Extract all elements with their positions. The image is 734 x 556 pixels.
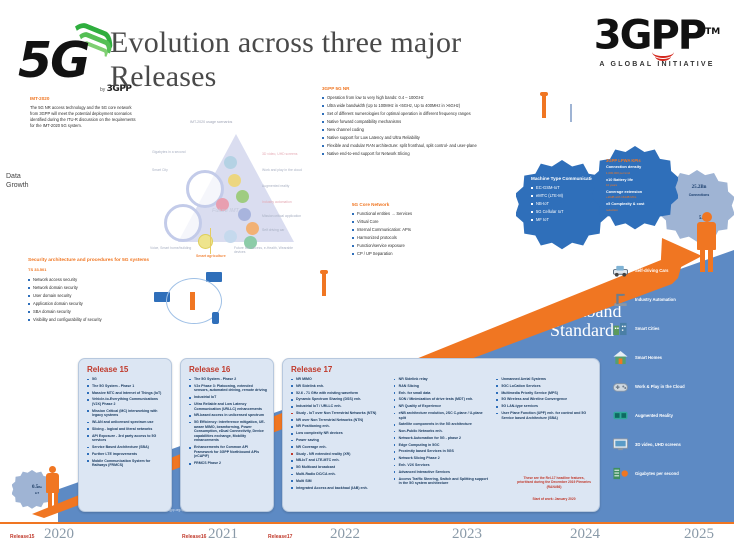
- release-15-item: WLAN and unlicensed spectrum use: [87, 420, 165, 425]
- use-case-item[interactable]: Industry Automation: [612, 285, 732, 314]
- nr-item: Native support for Low Latency and Ultra…: [322, 135, 537, 141]
- release-15-item: Vehicle-to-Everything Communications (V2…: [87, 397, 165, 406]
- mtc-item: NB-IoT: [531, 201, 603, 207]
- release-17-item: NR MIMO: [291, 377, 388, 382]
- car-icon: [612, 263, 629, 278]
- release-17-item: 5GC LoCation Services: [496, 384, 593, 389]
- release-17-item: Integrated Access and backhaul (IAB) enh…: [291, 486, 388, 491]
- release-17-item: User Plane Function (UPF) enh. for contr…: [496, 411, 593, 420]
- release-15-title: Release 15: [79, 359, 171, 377]
- release-17-item: 5G LAN-type services: [496, 404, 593, 409]
- base-station-top-2: [568, 102, 574, 122]
- swoosh-icon-2: [655, 51, 671, 61]
- release-15-list: 5GThe 5G System - Phase 1Massive MTC and…: [79, 377, 171, 475]
- release-17-card[interactable]: Release 17 NR MIMONR Sidelink enh.52.6 -…: [282, 358, 600, 512]
- nr-item: Native end-to-end support for Network Sl…: [322, 151, 537, 157]
- release-15-item: Mission Critical (MC) interworking with …: [87, 409, 165, 418]
- mtc-block: Machine Type Communications EC-GSM-IoTeM…: [531, 176, 603, 225]
- release-15-item: Further LTE improvements: [87, 452, 165, 457]
- release-17-item: NR Quality of Experience: [394, 404, 491, 409]
- lpwa-item-sub: +20dB with 164dB MCL: [606, 195, 668, 200]
- release-15-item: The 5G System - Phase 1: [87, 384, 165, 389]
- core-heading: 5G Core Network: [352, 202, 512, 208]
- release-15-item: API Exposure - 3rd party access to 5G se…: [87, 434, 165, 443]
- release-16-item: NR-based access in unlicensed spectrum: [189, 413, 267, 418]
- release-17-item: Network Automation for 5G - phase 2: [394, 436, 491, 441]
- base-station-top: [540, 92, 548, 118]
- pyramid-label-right-0: 3D video, UHD screens: [262, 152, 297, 156]
- release-17-item: NR Coverage enh.: [291, 445, 388, 450]
- release-17-item: NB-IoT and LTE-MTC enh.: [291, 458, 388, 463]
- lpwa-heading: 3GPP LPWA KPIs: [606, 158, 668, 163]
- release-17-item: Enh. for small data: [394, 391, 491, 396]
- lpwa-item-label: Coverage extension: [606, 190, 642, 194]
- kpi-connections-caption: Connections: [676, 193, 722, 197]
- timeline: 202020212022202320242025Release15Release…: [0, 520, 734, 556]
- mtc-item: 5G Cellular IoT: [531, 209, 603, 215]
- release-15-item: Massive MTC and Internet of Things (IoT): [87, 391, 165, 396]
- release-17-title: Release 17: [283, 359, 599, 377]
- release-16-item: The 5G System - Phase 2: [189, 377, 267, 382]
- lpwa-item: Connection density1,000,000 per km2: [606, 165, 668, 176]
- release-17-item: Multi-Radio DC/CA enh.: [291, 472, 388, 477]
- kpi-connections-number: 25.2: [692, 185, 701, 190]
- release-17-item: Non-Public Networks enh.: [394, 429, 491, 434]
- use-case-label: Smart Homes: [635, 355, 662, 360]
- robot-arm-icon: [612, 292, 629, 307]
- kpi-connections-value: 25.2Bn: [676, 180, 722, 193]
- page-title: Evolution across three major Releases: [110, 26, 570, 94]
- release-17-item: NR Sidelink relay: [394, 377, 491, 382]
- release-17-item: Study - IoT over Non Terrestrial Network…: [291, 411, 388, 416]
- use-case-item[interactable]: Augmented Reality: [612, 401, 732, 430]
- release-17-item: Access Traffic Steering, Switch and Spli…: [394, 477, 491, 486]
- release-17-item: 5G Multicast broadcast: [291, 465, 388, 470]
- screen-icon: [612, 437, 629, 452]
- mtc-item: MF IoT: [531, 217, 603, 223]
- imt2020-heading: IMT-2020: [30, 96, 138, 102]
- city-icon: [612, 321, 629, 336]
- pyramid-label-left-0: Gigabytes in a second: [152, 150, 186, 154]
- release-16-item: V2x Phase 3: Platooning, extended sensor…: [189, 384, 267, 393]
- timeline-year: 2020: [44, 526, 74, 543]
- lpwa-item-sub: reduction: [606, 208, 668, 213]
- pyramid-label-right-2: Augmented reality: [262, 184, 289, 188]
- lpwa-item-label: x5 Complexity & cost: [606, 202, 644, 206]
- release-16-item: Industrial IoT: [189, 395, 267, 400]
- nr-item: Operation from low to very high bands: 0…: [322, 95, 537, 101]
- lpwa-item-label: x10 Battery life: [606, 178, 633, 182]
- pyramid-icon-ar: [236, 190, 249, 203]
- timeline-release-marker: Release16: [182, 534, 206, 540]
- release-17-item: Network Slicing Phase 2: [394, 456, 491, 461]
- timeline-year: 2023: [452, 526, 482, 543]
- release-16-card[interactable]: Release 16 The 5G System - Phase 2V2x Ph…: [180, 358, 274, 512]
- pyramid-label-right-3: Industry automation: [262, 200, 292, 204]
- timeline-year: 2021: [208, 526, 238, 543]
- use-case-item[interactable]: Self-driving Cars: [612, 256, 732, 285]
- release-17-item: 52.6 - 71 GHz with existing waveform: [291, 391, 388, 396]
- release-17-item: NR over Non Terrestrial Networks (NTN): [291, 418, 388, 423]
- nr-item: Set of different numerologies for optima…: [322, 111, 537, 117]
- use-case-item[interactable]: Work & Play in the Cloud: [612, 372, 732, 401]
- release-17-item: RAN Slicing: [394, 384, 491, 389]
- release-17-note-2: Start of work: January 2020: [515, 497, 593, 501]
- release-15-item: Slicing - logical and literal networks: [87, 427, 165, 432]
- mtc-item: EC-GSM-IoT: [531, 185, 603, 191]
- pyramid-center-label: Future IMT: [212, 208, 239, 214]
- nr-list: Operation from low to very high bands: 0…: [322, 95, 537, 157]
- logo-3gpp: 3GPPTM A GLOBAL INITIATIVE: [592, 12, 722, 68]
- lpwa-item: x10 Battery life10 years: [606, 178, 668, 189]
- logo-5g-text: 5G: [18, 36, 88, 85]
- lpwa-item-sub: 10 years: [606, 183, 668, 188]
- timeline-axis: [0, 522, 734, 524]
- nr-block: 3GPP 5G NR Operation from low to very hi…: [322, 86, 537, 159]
- release-15-item: Service Based Architecture (SBA): [87, 445, 165, 450]
- base-station-mid: [320, 270, 328, 296]
- timeline-year: 2022: [330, 526, 360, 543]
- imt2020-body: The 5G NR access technology and the 5G c…: [30, 105, 138, 129]
- release-17-item: NR Sidelink enh.: [291, 384, 388, 389]
- release-17-item: Advanced Interactive Services: [394, 470, 491, 475]
- release-17-item: 5G Wireless and Wireline Convergence: [496, 397, 593, 402]
- timeline-year: 2024: [570, 526, 600, 543]
- use-case-label: 3D video, UHD screens: [635, 442, 681, 447]
- timeline-year: 2025: [684, 526, 714, 543]
- pyramid-icon-screen: [224, 156, 237, 169]
- release-16-item: 5G Efficiency: interference mitigation, …: [189, 420, 267, 443]
- lpwa-item-sub: 1,000,000 per km2: [606, 171, 668, 176]
- gamepad-icon: [612, 379, 629, 394]
- pyramid-title: IMT-2020 usage scenarios: [190, 120, 232, 124]
- release-17-item: Unmanned Aerial Systems: [496, 377, 593, 382]
- use-case-list: Self-driving CarsIndustry AutomationSmar…: [612, 256, 732, 488]
- nr-item: New channel coding: [322, 127, 537, 133]
- lpwa-item: Coverage extension+20dB with 164dB MCL: [606, 190, 668, 201]
- release-17-item: NR Positioning enh.: [291, 424, 388, 429]
- nr-heading: 3GPP 5G NR: [322, 86, 537, 92]
- house-icon: [612, 350, 629, 365]
- mtc-list: EC-GSM-IoTeMTC (LTE-M)NB-IoT5G Cellular …: [531, 185, 603, 223]
- release-17-item: Edge Computing in 5GC: [394, 443, 491, 448]
- release-17-item: eNB architecture evolution, 2SC C-plane …: [394, 411, 491, 420]
- core-item: Functional entities → Services: [352, 211, 512, 217]
- lpwa-item-label: Connection density: [606, 165, 641, 169]
- logo-3gpp-text: 3GPP: [594, 12, 705, 58]
- release-17-item: SON / Minimization of drive tests (MDT) …: [394, 397, 491, 402]
- kpi-connections-unit: Bn: [700, 185, 706, 190]
- imt2020-block: IMT-2020 The 5G NR access technology and…: [30, 96, 138, 129]
- release-16-item: Ultra Reliable and Low Latency Communica…: [189, 402, 267, 411]
- use-case-label: Smart Cities: [635, 326, 659, 331]
- lpwa-list: Connection density1,000,000 per km2x10 B…: [606, 165, 668, 213]
- logo-by-label: by: [100, 87, 105, 93]
- release-17-list-2: NR Sidelink relayRAN SlicingEnh. for sma…: [394, 377, 491, 492]
- release-17-item: Enh. V2X Services: [394, 463, 491, 468]
- use-case-item[interactable]: 3D video, UHD screens: [612, 430, 732, 459]
- lpwa-item: x5 Complexity & costreduction: [606, 202, 668, 213]
- release-16-item: Enhancements for Common API Framework fo…: [189, 445, 267, 459]
- pyramid-label-right-4: Mission critical application: [262, 214, 301, 218]
- release-17-item: Multi SIM: [291, 479, 388, 484]
- release-17-list-3: Unmanned Aerial Systems5GC LoCation Serv…: [496, 377, 593, 492]
- release-15-card[interactable]: Release 15 5GThe 5G System - Phase 1Mass…: [78, 358, 172, 512]
- use-case-label: Augmented Reality: [635, 413, 673, 418]
- timeline-release-marker: Release15: [10, 534, 34, 540]
- nr-item: Flexible and modular RAN architecture: s…: [322, 143, 537, 149]
- pyramid-label-left-1: Smart City: [152, 168, 168, 172]
- logo-3gpp-tagline: A GLOBAL INITIATIVE: [592, 61, 722, 68]
- release-15-item: 5G: [87, 377, 165, 382]
- trademark-icon: TM: [705, 27, 720, 37]
- use-case-label: Self-driving Cars: [635, 268, 669, 273]
- release-16-title: Release 16: [181, 359, 273, 377]
- release-17-item: Power saving: [291, 438, 388, 443]
- person-silhouette-left: [44, 466, 62, 512]
- pyramid-icon-critical: [238, 208, 251, 221]
- use-case-label: Industry Automation: [635, 297, 676, 302]
- ar-glasses-icon: [612, 408, 629, 423]
- nr-item: Native forward compatibility mechanisms: [322, 119, 537, 125]
- page-header: 5G by 3GPP Evolution across three major …: [0, 0, 734, 92]
- release-17-list-1: NR MIMONR Sidelink enh.52.6 - 71 GHz wit…: [291, 377, 388, 492]
- release-17-item: Low complexity NR devices: [291, 431, 388, 436]
- use-case-label: Work & Play in the Cloud: [635, 384, 685, 389]
- release-17-item: Satellite components in the 5G architect…: [394, 422, 491, 427]
- lpwa-block: 3GPP LPWA KPIs Connection density1,000,0…: [606, 158, 668, 215]
- use-case-label: Gigabytes per second: [635, 471, 679, 476]
- kpi-connections: 25.2Bn Connections: [676, 180, 722, 197]
- release-15-item: Mobile Communication System for Railways…: [87, 459, 165, 468]
- release-17-item: Multimedia Priority Service (MPS): [496, 391, 593, 396]
- use-case-item[interactable]: Smart Homes: [612, 343, 732, 372]
- release-17-item: Dynamic Spectrum Sharing (DSS) enh.: [291, 397, 388, 402]
- release-17-item: Study - NR extended reality (XR): [291, 452, 388, 457]
- use-case-item[interactable]: Smart Cities: [612, 314, 732, 343]
- timeline-release-marker: Release17: [268, 534, 292, 540]
- pyramid-label-right-1: Work and play in the cloud: [262, 168, 302, 172]
- release-16-list: The 5G System - Phase 2V2x Phase 3: Plat…: [181, 377, 273, 473]
- release-17-item: Proximity based Services in 5GS: [394, 449, 491, 454]
- release-17-note: These are the Rel-17 headline features, …: [515, 476, 593, 489]
- release-17-item: Industrial IoT / URLLC enh.: [291, 404, 388, 409]
- release-16-item: FRMCS Phase 2: [189, 461, 267, 466]
- pyramid-icon-cloud: [228, 174, 241, 187]
- nr-item: Ultra wide bandwidth (Up to 100MHz in <6…: [322, 103, 537, 109]
- server-icon: [612, 466, 629, 481]
- use-case-item[interactable]: Gigabytes per second: [612, 459, 732, 488]
- data-growth-label: DataGrowth: [6, 172, 54, 190]
